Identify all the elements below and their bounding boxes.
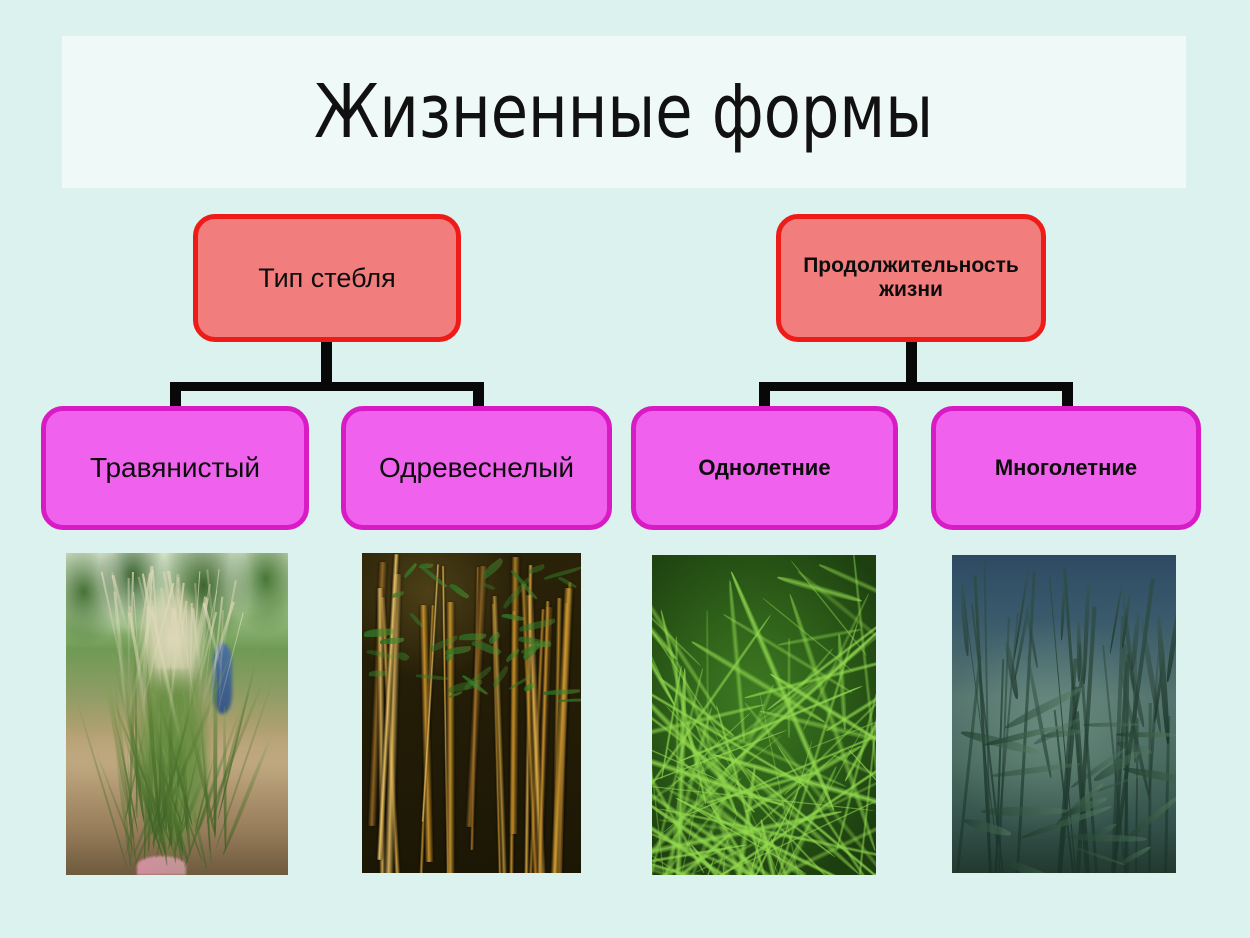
seed-head bbox=[1076, 621, 1081, 682]
node-annual-label: Однолетние bbox=[690, 456, 838, 481]
connector-stem-type-trunk bbox=[321, 341, 332, 387]
bamboo-leaf bbox=[558, 698, 581, 702]
node-perennial-label: Многолетние bbox=[987, 456, 1145, 481]
photo-woody-bamboo bbox=[362, 553, 581, 873]
connector-to-perennial bbox=[1062, 382, 1073, 408]
photo-herbaceous-grass bbox=[66, 553, 288, 875]
node-annual[interactable]: Однолетние bbox=[631, 406, 898, 530]
photo-perennial-canvas bbox=[952, 555, 1176, 873]
photo-perennial-grass bbox=[952, 555, 1176, 873]
title-banner: Жизненные формы bbox=[62, 36, 1186, 188]
photo-woody-canvas bbox=[362, 553, 581, 873]
node-herbaceous-label: Травянистый bbox=[82, 452, 268, 483]
connector-to-herbaceous bbox=[170, 382, 181, 408]
node-perennial[interactable]: Многолетние bbox=[931, 406, 1201, 530]
node-stem-type[interactable]: Тип стебля bbox=[193, 214, 461, 342]
node-lifespan[interactable]: Продолжительность жизни bbox=[776, 214, 1046, 342]
connector-lifespan-crossbar bbox=[759, 382, 1073, 391]
node-stem-type-label: Тип стебля bbox=[250, 263, 403, 293]
connector-to-woody bbox=[473, 382, 484, 408]
node-woody[interactable]: Одревеснелый bbox=[341, 406, 612, 530]
photo-annual-grass bbox=[652, 555, 876, 875]
node-herbaceous[interactable]: Травянистый bbox=[41, 406, 309, 530]
grass-leaf bbox=[1116, 732, 1176, 737]
connector-stem-type-crossbar bbox=[170, 382, 484, 391]
photo-annual-canvas bbox=[652, 555, 876, 875]
photo-herbaceous-canvas bbox=[66, 553, 288, 875]
node-woody-label: Одревеснелый bbox=[371, 452, 582, 483]
page-title: Жизненные формы bbox=[314, 75, 933, 149]
connector-lifespan-trunk bbox=[906, 341, 917, 387]
node-lifespan-label: Продолжительность жизни bbox=[781, 254, 1041, 301]
connector-to-annual bbox=[759, 382, 770, 408]
slide-canvas: Жизненные формы Тип стебля Продолжительн… bbox=[0, 0, 1250, 938]
